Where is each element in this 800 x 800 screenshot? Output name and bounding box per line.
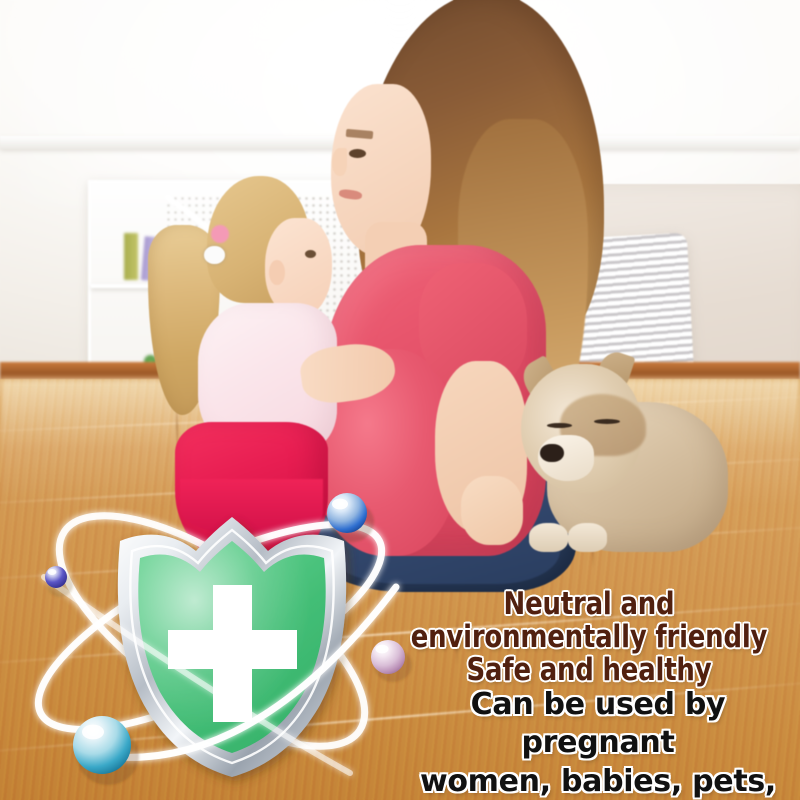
puppy-eye-right bbox=[594, 419, 620, 424]
subheadline-text: Can be used by pregnant women, babies, p… bbox=[400, 686, 796, 800]
girl-eye bbox=[305, 250, 316, 258]
headline-line-1: Neutral and environmentally friendly bbox=[411, 586, 768, 655]
subheadline-line-2: women, babies, pets, etc bbox=[400, 763, 796, 800]
puppy-eye-left bbox=[547, 423, 573, 428]
book-green bbox=[124, 233, 138, 281]
subheadline-line-1: Can be used by pregnant bbox=[471, 687, 726, 760]
shield-graphic bbox=[118, 517, 346, 777]
headline-text: Neutral and environmentally friendly Saf… bbox=[397, 588, 780, 687]
sphere-blue-top bbox=[327, 493, 374, 542]
woman-nose bbox=[332, 148, 347, 177]
headline-line-2: Safe and healthy bbox=[397, 654, 780, 687]
puppy-paw-2 bbox=[568, 523, 607, 552]
product-banner: Neutral and environmentally friendly Saf… bbox=[0, 0, 800, 800]
sphere-violet-small bbox=[45, 566, 73, 597]
girl-hair-bow bbox=[211, 225, 229, 243]
puppy-paw-1 bbox=[529, 523, 568, 552]
husky-puppy bbox=[512, 352, 728, 560]
puppy-nose bbox=[540, 444, 564, 463]
girl-hair-tie bbox=[204, 246, 224, 264]
